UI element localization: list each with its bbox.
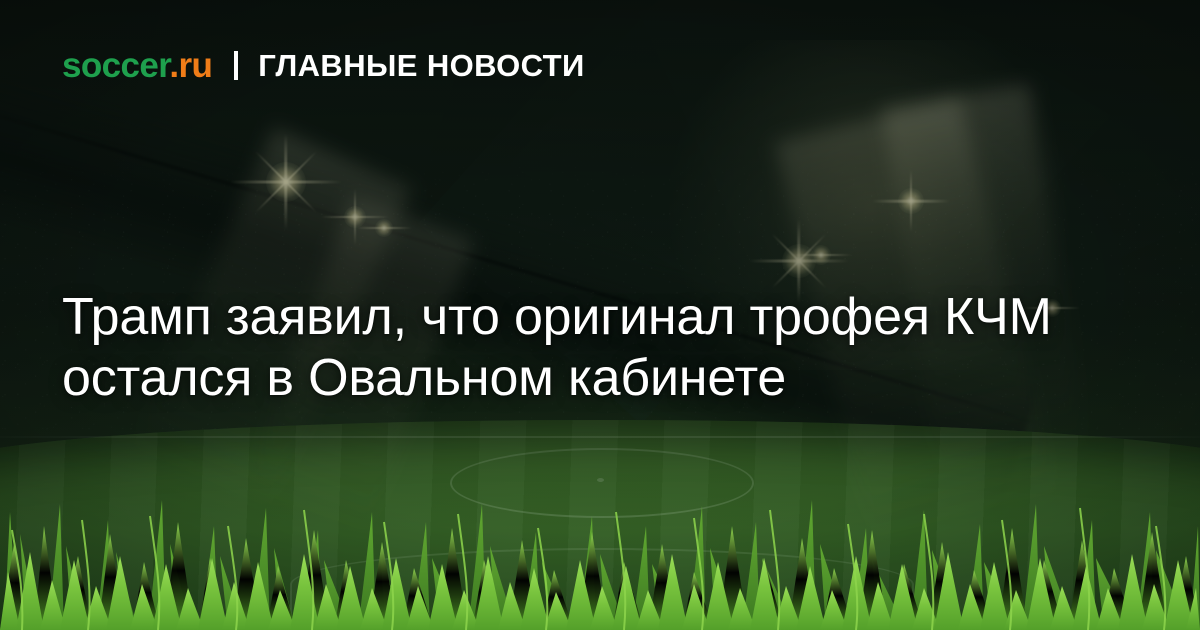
- pitch-penalty-box-line: [290, 548, 914, 630]
- site-logo[interactable]: soccer.ru: [62, 48, 212, 83]
- logo-word: soccer: [62, 46, 169, 85]
- section-title: ГЛАВНЫЕ НОВОСТИ: [258, 50, 584, 81]
- logo-tld: .ru: [169, 46, 212, 85]
- pitch-touchline: [0, 436, 1200, 438]
- article-headline: Трамп заявил, что оригинал трофея КЧМ ос…: [62, 287, 1122, 410]
- news-share-card: soccer.ru ГЛАВНЫЕ НОВОСТИ Трамп заявил, …: [0, 0, 1200, 630]
- pitch-center-circle: [450, 448, 754, 518]
- header-divider: [234, 51, 238, 80]
- card-header: soccer.ru ГЛАВНЫЕ НОВОСТИ: [62, 48, 585, 83]
- pitch-center-spot: [597, 478, 604, 482]
